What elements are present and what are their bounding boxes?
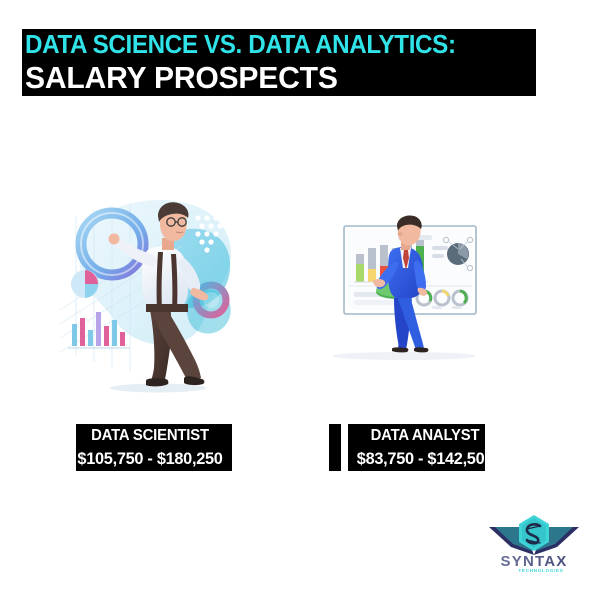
logo-tagline-text: TECHNOLOGIES <box>518 568 563 573</box>
syntax-technologies-logo: SYNTAX TECHNOLOGIES <box>487 511 581 573</box>
poster-canvas: DATA SCIENCE VS. DATA ANALYTICS: SALARY … <box>0 0 600 600</box>
data-scientist-illustration <box>58 192 248 400</box>
floor-shadow <box>332 352 476 360</box>
data-analyst-role-label: DATA ANALYST <box>281 426 569 446</box>
title-line-two: SALARY PROSPECTS <box>25 61 568 95</box>
title-line-one: DATA SCIENCE VS. DATA ANALYTICS: <box>25 30 557 60</box>
pie-chart-small <box>71 270 99 298</box>
data-scientist-label-group: DATA SCIENTIST $105,750 - $180,250 <box>0 424 300 476</box>
data-scientist-salary-range: $105,750 - $180,250 <box>6 448 294 469</box>
data-analyst-illustration <box>312 214 498 366</box>
data-analyst-label-group: DATA ANALYST $83,750 - $142,500 <box>300 424 600 476</box>
data-scientist-role-label: DATA SCIENTIST <box>6 426 294 446</box>
data-analyst-salary-range: $83,750 - $142,500 <box>281 448 569 469</box>
